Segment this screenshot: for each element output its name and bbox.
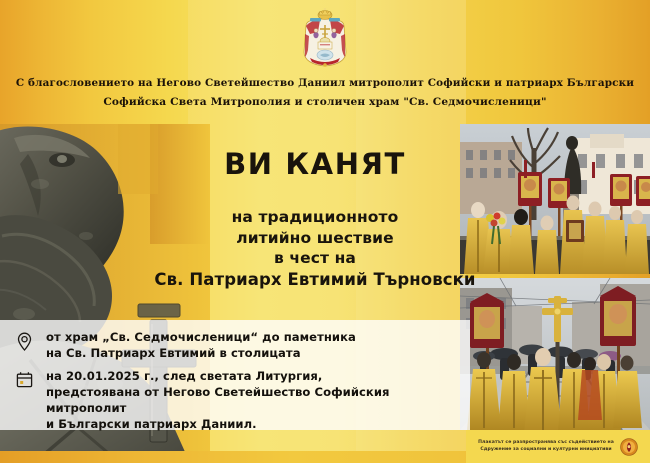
procession-street-image (460, 278, 650, 430)
association-logo-icon (620, 438, 638, 456)
poster-root: С благословението на Негово Светейшество… (0, 0, 650, 463)
invite-line-4: Св. Патриарх Евтимий Търновски (150, 269, 480, 291)
footer-credit: Плакатът се разпространява със съдействи… (466, 430, 650, 463)
procession-monument-image (460, 124, 650, 274)
header-line-1: С благословението на Негово Светейшество… (0, 78, 650, 88)
footer-text: Плакатът се разпространява със съдействи… (478, 440, 614, 454)
procession-on-street-photo (460, 278, 650, 430)
header-block: С благословението на Негово Светейшество… (0, 78, 650, 117)
header-line-2: Софийска Света Митрополия и столичен хра… (0, 97, 650, 108)
association-logo (620, 438, 638, 456)
footer-line-1: Плакатът се разпространява със съдействи… (478, 440, 614, 447)
date-line-1: на 20.01.2025 г., след светата Литургия, (46, 369, 470, 385)
date-text: на 20.01.2025 г., след светата Литургия,… (46, 369, 470, 433)
location-line-1: от храм „Св. Седмочисленици“ до паметник… (46, 330, 356, 346)
procession-at-monument-photo (460, 124, 650, 274)
details-panel: от храм „Св. Седмочисленици“ до паметник… (0, 320, 470, 430)
location-line-2: на Св. Патриарх Евтимий в столицата (46, 346, 356, 362)
invite-subtext: на традиционното литийно шествие в чест … (150, 207, 480, 291)
location-row: от храм „Св. Седмочисленици“ до паметник… (16, 330, 470, 362)
date-line-2: предстоявана от Негово Светейшество Софи… (46, 385, 470, 417)
date-row: на 20.01.2025 г., след светата Литургия,… (16, 369, 470, 433)
invite-line-3: в чест на (150, 248, 480, 269)
footer-line-2: Сдружение за социални и културни инициат… (478, 447, 614, 454)
location-text: от храм „Св. Седмочисленици“ до паметник… (46, 330, 356, 362)
invite-line-2: литийно шествие (150, 228, 480, 249)
map-pin-icon (16, 330, 46, 351)
invite-block: ВИ КАНЯТ на традиционното литийно шестви… (150, 150, 480, 291)
invite-title: ВИ КАНЯТ (150, 150, 480, 179)
coat-of-arms-icon (296, 8, 354, 70)
calendar-icon (16, 369, 46, 390)
invite-line-1: на традиционното (150, 207, 480, 228)
date-line-3: и Български патриарх Даниил. (46, 417, 470, 433)
crest-container (0, 8, 650, 70)
